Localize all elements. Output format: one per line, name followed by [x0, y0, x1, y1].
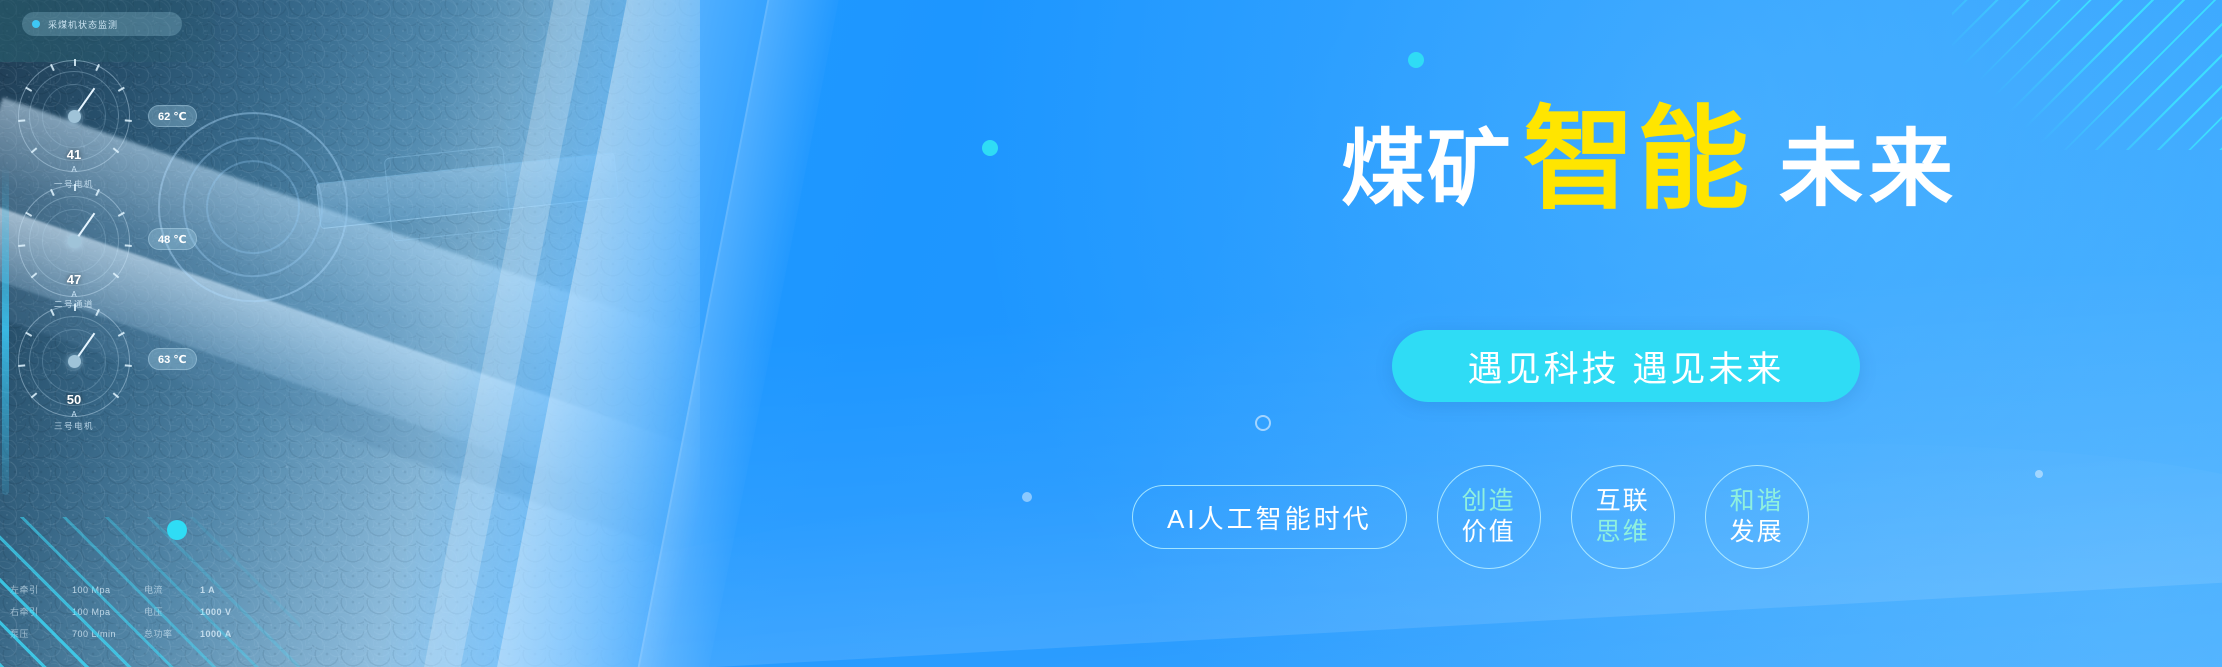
badge-harmonious-development-bottom: 发展	[1730, 518, 1784, 547]
decorative-dot-cyan-2	[982, 140, 998, 156]
headline-part-1: 煤矿	[1341, 127, 1513, 211]
gauge-unit: A	[18, 165, 130, 174]
decorative-dot-cyan-1	[167, 520, 187, 540]
gauge-value: 41	[18, 147, 130, 162]
gauge-tick	[74, 184, 76, 191]
gauge-hub	[68, 235, 81, 248]
badge-connected-thinking[interactable]: 互联 思维	[1571, 465, 1675, 569]
hud-title-label: 采煤机状态监测	[48, 18, 118, 31]
gauge-2-temperature: 48 ℃	[148, 228, 197, 250]
subtitle-text: 遇见科技 遇见未来	[1468, 341, 1785, 392]
gauge-hub	[68, 110, 81, 123]
badge-create-value-top: 创造	[1462, 487, 1516, 516]
gauge-tick	[74, 59, 76, 66]
gauge-hub	[68, 355, 81, 368]
promo-banner: 采煤机状态监测 41 A 62 ℃ 一号电机	[0, 0, 2222, 667]
badge-row: AI人工智能时代 创造 价值 互联 思维 和谐 发展	[1132, 465, 2172, 569]
status-dot-icon	[32, 20, 40, 28]
gauge-1: 41 A	[18, 60, 130, 172]
gauge-unit: A	[18, 410, 130, 419]
hud-diagonal-stripes	[0, 517, 300, 667]
subtitle-pill[interactable]: 遇见科技 遇见未来	[1392, 330, 1860, 402]
headline-part-3: 未来	[1779, 127, 1959, 211]
gauge-3: 50 A	[18, 305, 130, 417]
gauge-value: 50	[18, 392, 130, 407]
badge-create-value-bottom: 价值	[1462, 518, 1516, 547]
badge-harmonious-development[interactable]: 和谐 发展	[1705, 465, 1809, 569]
machine-status-hud: 采煤机状态监测 41 A 62 ℃ 一号电机	[0, 0, 300, 667]
hud-title-pill: 采煤机状态监测	[22, 12, 182, 36]
banner-content: 煤矿 智能 未来 遇见科技 遇见未来 AI人工智能时代 创造 价值 互联 思维 …	[1080, 0, 2222, 667]
headline: 煤矿 智能 未来	[1140, 104, 2160, 216]
gauge-3-label: 三号电机	[18, 420, 130, 432]
badge-create-value[interactable]: 创造 价值	[1437, 465, 1541, 569]
gauge-value: 47	[18, 272, 130, 287]
gauge-3-temperature: 63 ℃	[148, 348, 197, 370]
hud-side-indicator	[2, 165, 9, 495]
badge-ai-era-label: AI人工智能时代	[1167, 499, 1372, 536]
decorative-dot-soft-1	[1022, 492, 1032, 502]
gauge-tick	[74, 304, 76, 311]
badge-ai-era[interactable]: AI人工智能时代	[1132, 485, 1407, 549]
badge-connected-thinking-top: 互联	[1596, 487, 1650, 516]
headline-part-2-highlight: 智能	[1523, 104, 1751, 216]
gauge-1-temperature: 62 ℃	[148, 105, 197, 127]
badge-harmonious-development-top: 和谐	[1730, 487, 1784, 516]
badge-connected-thinking-bottom: 思维	[1596, 518, 1650, 547]
gauge-2: 47 A	[18, 185, 130, 297]
